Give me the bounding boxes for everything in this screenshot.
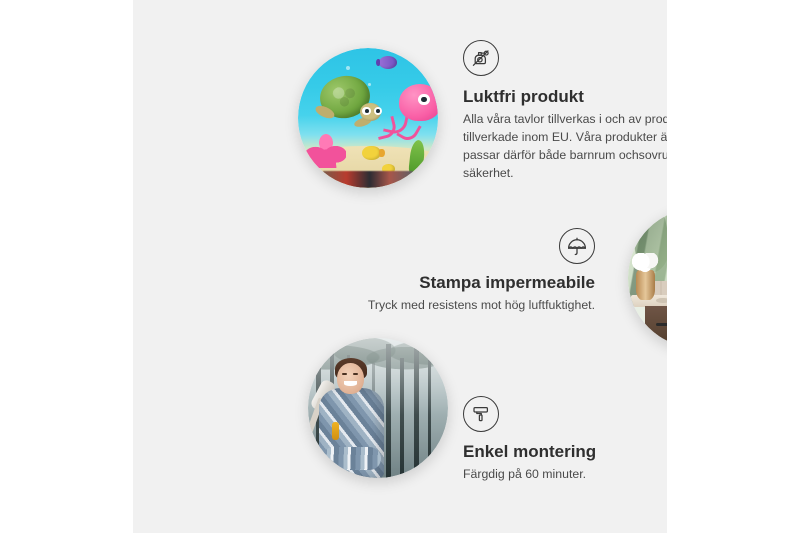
paint-roller-icon — [463, 396, 499, 432]
feature-description: Färgdig på 60 minuter. — [463, 466, 667, 484]
painter-arm — [322, 447, 381, 469]
feature-title: Enkel montering — [463, 441, 667, 462]
painter-head — [337, 363, 364, 394]
bathroom-artwork-disc[interactable] — [628, 208, 667, 348]
feature-description: Alla våra tavlor tillverkas i och av pro… — [463, 111, 667, 183]
product-feature-infographic: Luktfri produkt Alla våra tavlor tillver… — [0, 0, 800, 533]
ocean-artwork-image — [298, 48, 438, 188]
feature-waterproof: Stampa impermeabile Tryck med resistens … — [333, 228, 595, 315]
octopus-eye — [418, 94, 429, 105]
painter-eye — [353, 373, 359, 375]
feature-title: Stampa impermeabile — [333, 272, 595, 293]
painter-eye — [342, 373, 348, 375]
painter-artwork-image — [308, 338, 448, 478]
feature-mounting: Enkel montering Färgdig på 60 minuter. — [463, 396, 667, 484]
drawer-handle — [656, 323, 667, 326]
umbrella-icon — [559, 228, 595, 264]
feature-odourless: Luktfri produkt Alla våra tavlor tillver… — [463, 40, 667, 183]
flower-vase — [636, 270, 654, 301]
tool-handle — [332, 422, 339, 440]
bubble-icon — [368, 83, 371, 86]
painter-smile — [344, 381, 357, 385]
turtle-eye — [374, 107, 382, 115]
content-panel: Luktfri produkt Alla våra tavlor tillver… — [133, 0, 667, 533]
feature-title: Luktfri produkt — [463, 86, 667, 107]
artwork-bottom-strip — [323, 171, 413, 188]
painter-artwork-disc[interactable] — [308, 338, 448, 478]
white-flowers — [631, 253, 659, 273]
soap-dish — [656, 298, 667, 304]
ocean-artwork-disc[interactable] — [298, 48, 438, 188]
no-odour-icon — [463, 40, 499, 76]
pink-coral — [306, 132, 345, 168]
yellow-fish — [362, 146, 380, 160]
turtle-eye — [362, 107, 370, 115]
feature-description: Tryck med resistens mot hög luftfuktighe… — [333, 297, 595, 315]
bathroom-artwork-image — [628, 208, 667, 348]
